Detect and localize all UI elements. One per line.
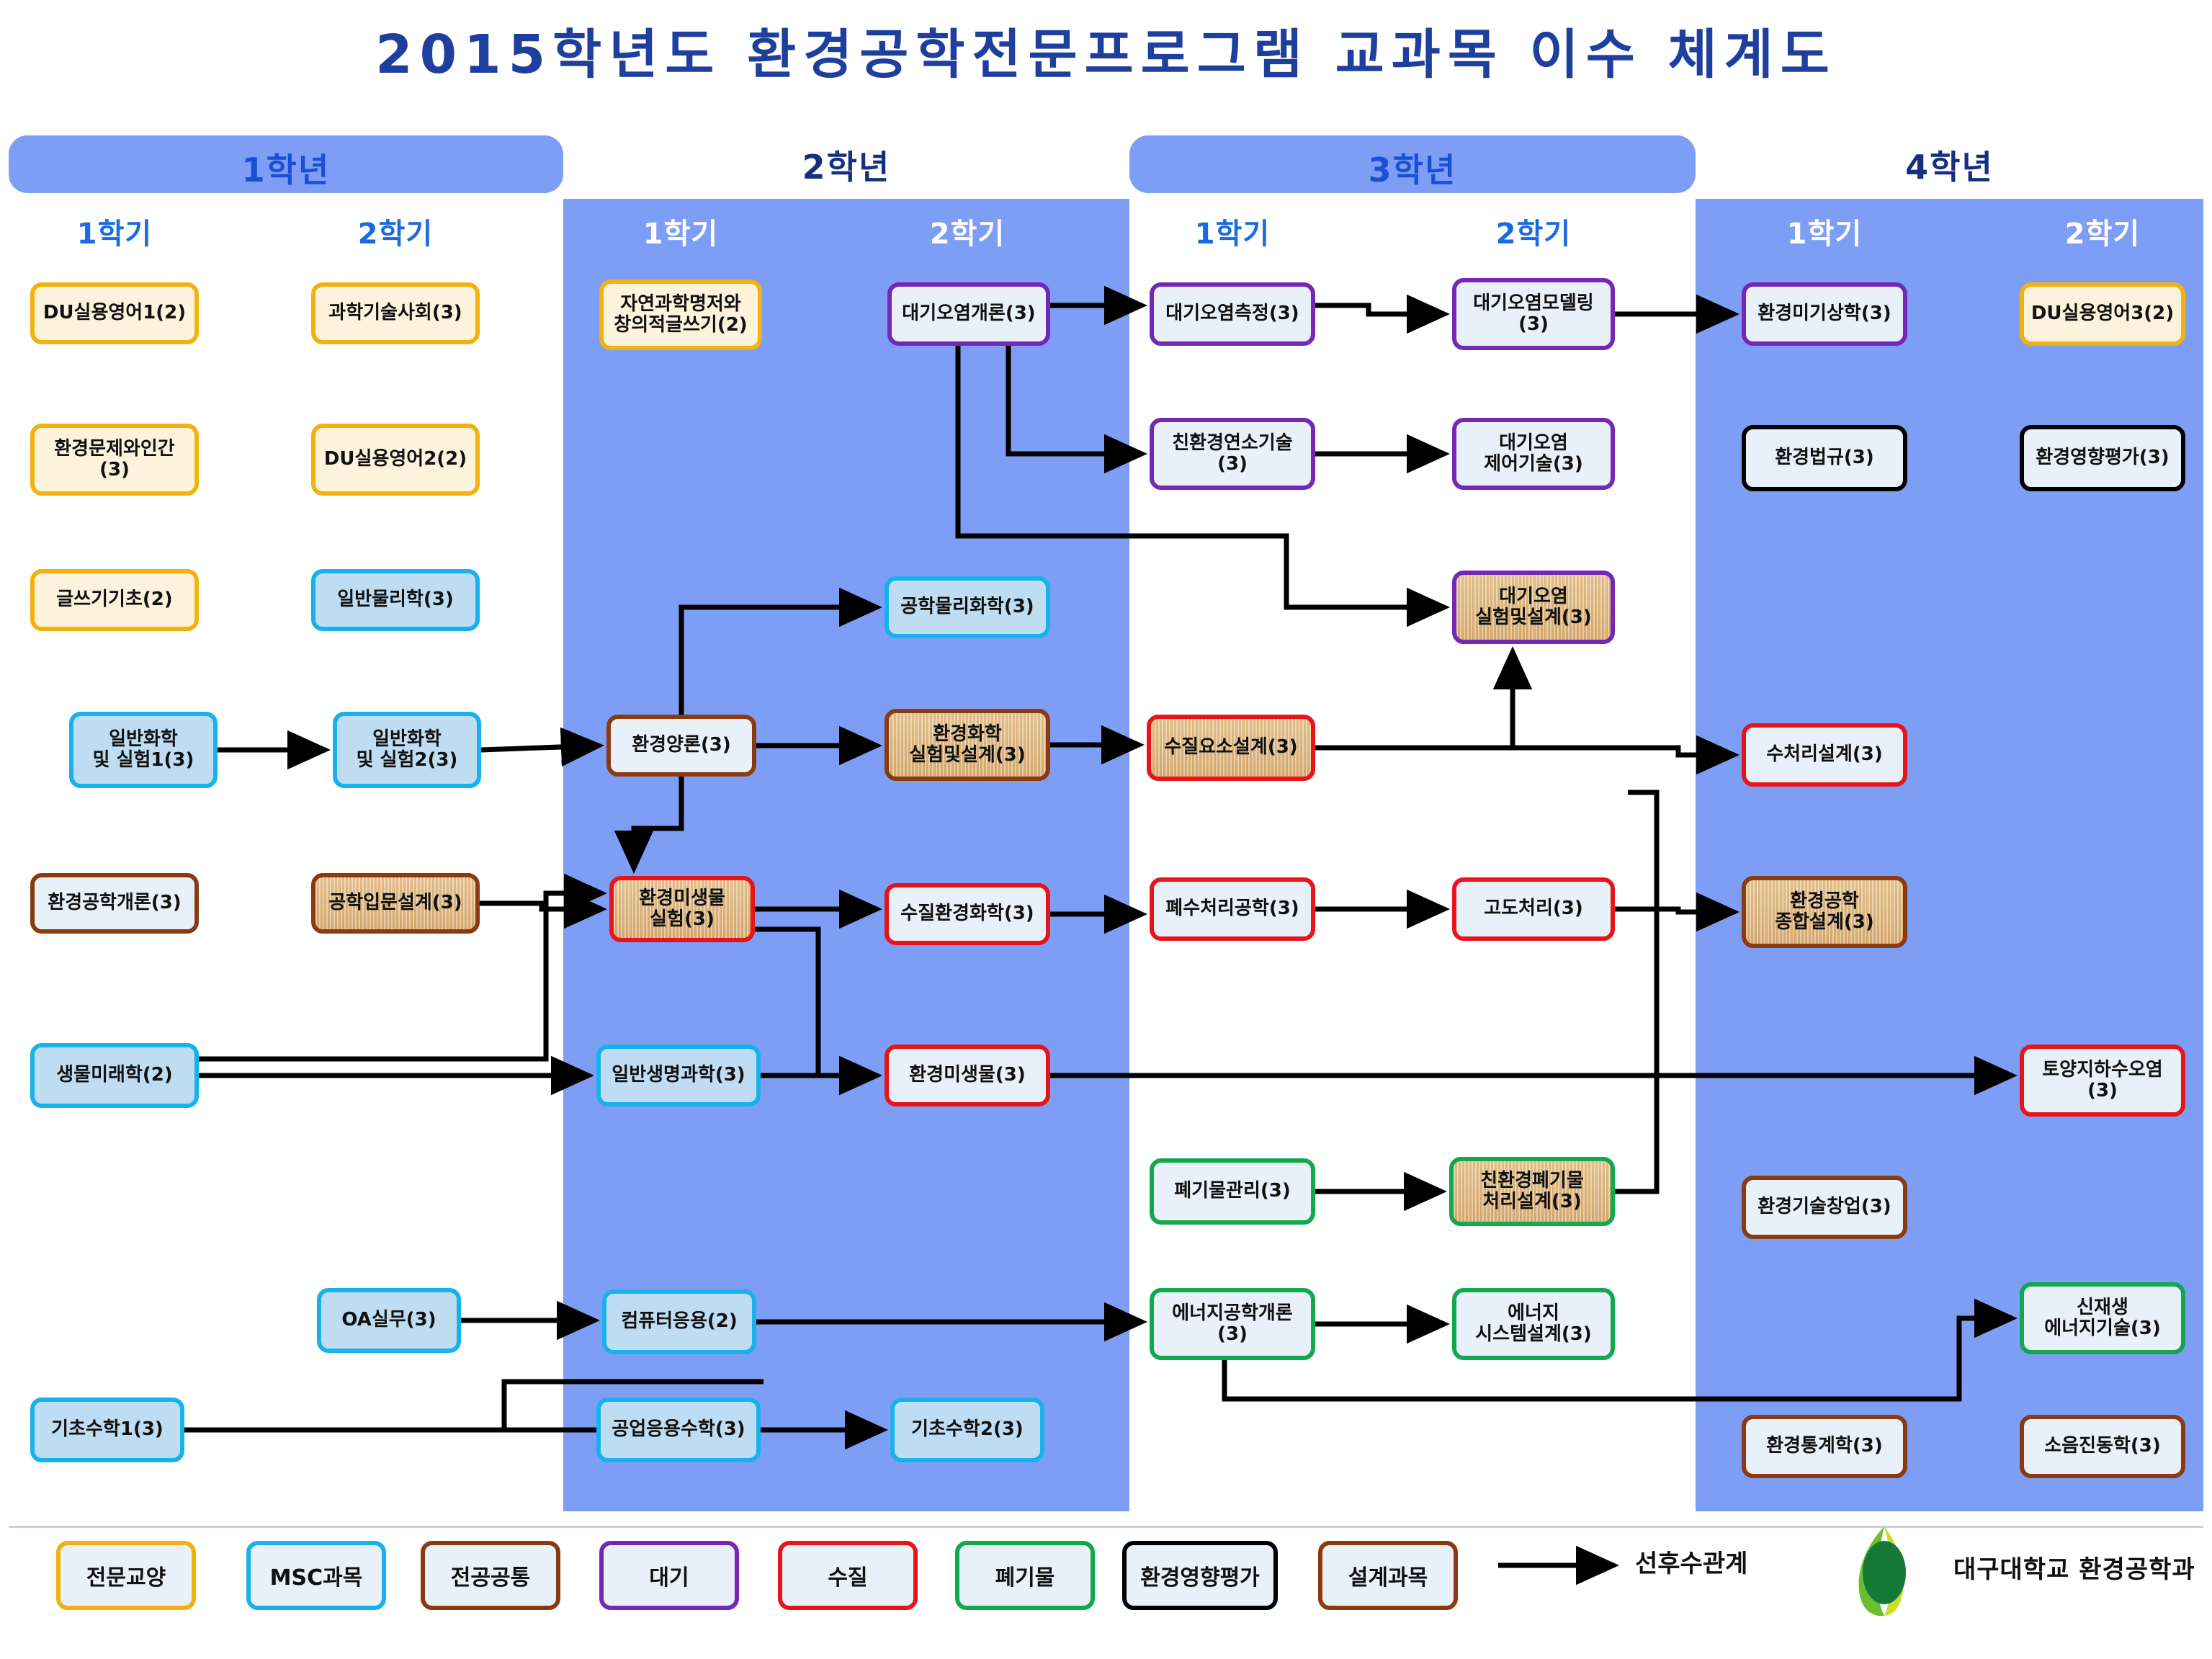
- course-box-waterchem[interactable]: 수질환경화학(3): [885, 883, 1050, 945]
- year-4-semester-1-label: 1학기: [1742, 210, 1907, 252]
- legend-chip-3[interactable]: 대기: [599, 1541, 739, 1610]
- course-box-envhuman[interactable]: 환경문제와인간 (3): [30, 424, 199, 496]
- course-box-wastewater[interactable]: 폐수처리공학(3): [1150, 877, 1315, 941]
- legend-chip-7[interactable]: 설계과목: [1318, 1541, 1458, 1610]
- course-box-genbio[interactable]: 일반생명과학(3): [596, 1045, 761, 1106]
- legend: 전문교양MSC과목전공공통대기수질폐기물환경영향평가설계과목 선후수관계 대구대…: [9, 1526, 2203, 1652]
- legend-arrow-label: 선후수관계: [1635, 1544, 1747, 1579]
- legend-arrow-icon: [1495, 1545, 1632, 1586]
- course-box-envmicro[interactable]: 환경미생물(3): [885, 1045, 1050, 1106]
- year-1-semester-1-label: 1학기: [30, 210, 199, 252]
- legend-chip-6[interactable]: 환경영향평가: [1122, 1541, 1278, 1610]
- course-box-computer[interactable]: 컴퓨터응용(2): [602, 1289, 756, 1354]
- course-box-noise[interactable]: 소음진동학(3): [2020, 1415, 2185, 1478]
- year-2-semester-2-label: 2학기: [885, 210, 1050, 252]
- course-box-waterproc[interactable]: 수처리설계(3): [1742, 723, 1907, 787]
- legend-chip-5[interactable]: 폐기물: [955, 1541, 1095, 1610]
- course-box-waterdesign[interactable]: 수질요소설계(3): [1147, 715, 1315, 781]
- course-box-airlab[interactable]: 대기오염 실험및설계(3): [1452, 571, 1615, 644]
- course-box-envmicrolab[interactable]: 환경미생물 실험(3): [609, 876, 755, 942]
- year-4-label: 4학년: [1696, 141, 2203, 189]
- legend-chip-4[interactable]: 수질: [778, 1541, 918, 1610]
- course-box-du3[interactable]: DU실용영어3(2): [2020, 282, 2185, 346]
- course-box-airintro[interactable]: 대기오염개론(3): [887, 282, 1050, 346]
- course-box-envchemlab[interactable]: 환경화학 실험및설계(3): [885, 709, 1050, 781]
- course-box-wastemgmt[interactable]: 폐기물관리(3): [1150, 1158, 1315, 1225]
- course-box-ecowaste[interactable]: 친환경폐기물 처리설계(3): [1449, 1157, 1615, 1226]
- year-2-label: 2학년: [563, 141, 1129, 189]
- course-box-basicmath2[interactable]: 기초수학2(3): [890, 1398, 1044, 1462]
- course-box-appmath[interactable]: 공업응용수학(3): [596, 1398, 761, 1462]
- course-box-advtreat[interactable]: 고도처리(3): [1452, 877, 1615, 941]
- course-box-renewable[interactable]: 신재생 에너지기술(3): [2020, 1282, 2185, 1354]
- course-box-biofuture[interactable]: 생물미래학(2): [30, 1043, 199, 1108]
- course-box-envstartup[interactable]: 환경기술창업(3): [1742, 1176, 1907, 1239]
- course-box-soilgw[interactable]: 토양지하수오염 (3): [2020, 1045, 2185, 1117]
- course-box-du2[interactable]: DU실용영어2(2): [311, 424, 480, 496]
- course-box-eia[interactable]: 환경영향평가(3): [2020, 425, 2185, 491]
- course-box-envcapstone[interactable]: 환경공학 종합설계(3): [1742, 876, 1907, 948]
- course-box-envquant[interactable]: 환경양론(3): [606, 715, 756, 777]
- year-1-semester-2-label: 2학기: [311, 210, 480, 252]
- legend-chip-0[interactable]: 전문교양: [56, 1541, 196, 1610]
- course-box-airmeasure[interactable]: 대기오염측정(3): [1150, 282, 1315, 346]
- course-box-engdesign[interactable]: 공학입문설계(3): [311, 873, 480, 934]
- year-2-semester-1-label: 1학기: [599, 210, 762, 252]
- year-3-label: 3학년: [1129, 144, 1696, 192]
- course-box-du1[interactable]: DU실용영어1(2): [30, 282, 199, 344]
- course-box-micromet[interactable]: 환경미기상학(3): [1742, 282, 1907, 346]
- course-box-airmodel[interactable]: 대기오염모델링 (3): [1452, 278, 1615, 350]
- course-box-ecocombust[interactable]: 친환경연소기술 (3): [1150, 418, 1315, 490]
- course-box-genchem2[interactable]: 일반화학 및 실험2(3): [333, 712, 481, 788]
- course-box-energysys[interactable]: 에너지 시스템설계(3): [1452, 1288, 1615, 1360]
- course-box-envlaw[interactable]: 환경법규(3): [1742, 425, 1907, 491]
- university-department-label: 대구대학교 환경공학과: [1953, 1550, 2195, 1585]
- course-box-scibooks[interactable]: 과학기술사회(3): [311, 282, 480, 344]
- curriculum-flowchart-page: 2015학년도 환경공학전문프로그램 교과목 이수 체계도 1학년 2학년 3학…: [0, 0, 2212, 1659]
- course-box-genphys[interactable]: 일반물리학(3): [311, 569, 480, 631]
- course-box-energyintro[interactable]: 에너지공학개론 (3): [1150, 1288, 1315, 1360]
- course-box-envstats[interactable]: 환경통계학(3): [1742, 1415, 1907, 1478]
- course-box-engphyschem[interactable]: 공학물리화학(3): [885, 576, 1050, 638]
- course-box-natsci[interactable]: 자연과학명저와 창의적글쓰기(2): [599, 280, 762, 350]
- course-box-genchem1[interactable]: 일반화학 및 실험1(3): [69, 712, 218, 788]
- year-1-label: 1학년: [9, 144, 563, 192]
- course-box-aircontrol[interactable]: 대기오염 제어기술(3): [1452, 418, 1615, 490]
- year-3-semester-1-label: 1학기: [1150, 210, 1315, 252]
- daegu-university-logo-icon: [1831, 1524, 1939, 1619]
- course-box-writing[interactable]: 글쓰기기초(2): [30, 569, 199, 631]
- course-box-oa[interactable]: OA실무(3): [317, 1288, 461, 1353]
- course-box-basicmath1[interactable]: 기초수학1(3): [30, 1398, 184, 1462]
- page-title: 2015학년도 환경공학전문프로그램 교과목 이수 체계도: [0, 12, 2212, 89]
- year-4-semester-2-label: 2학기: [2020, 210, 2185, 252]
- course-box-envintro[interactable]: 환경공학개론(3): [30, 873, 199, 934]
- legend-chip-1[interactable]: MSC과목: [246, 1541, 386, 1610]
- legend-chip-2[interactable]: 전공공통: [421, 1541, 560, 1610]
- year-3-semester-2-label: 2학기: [1452, 210, 1615, 252]
